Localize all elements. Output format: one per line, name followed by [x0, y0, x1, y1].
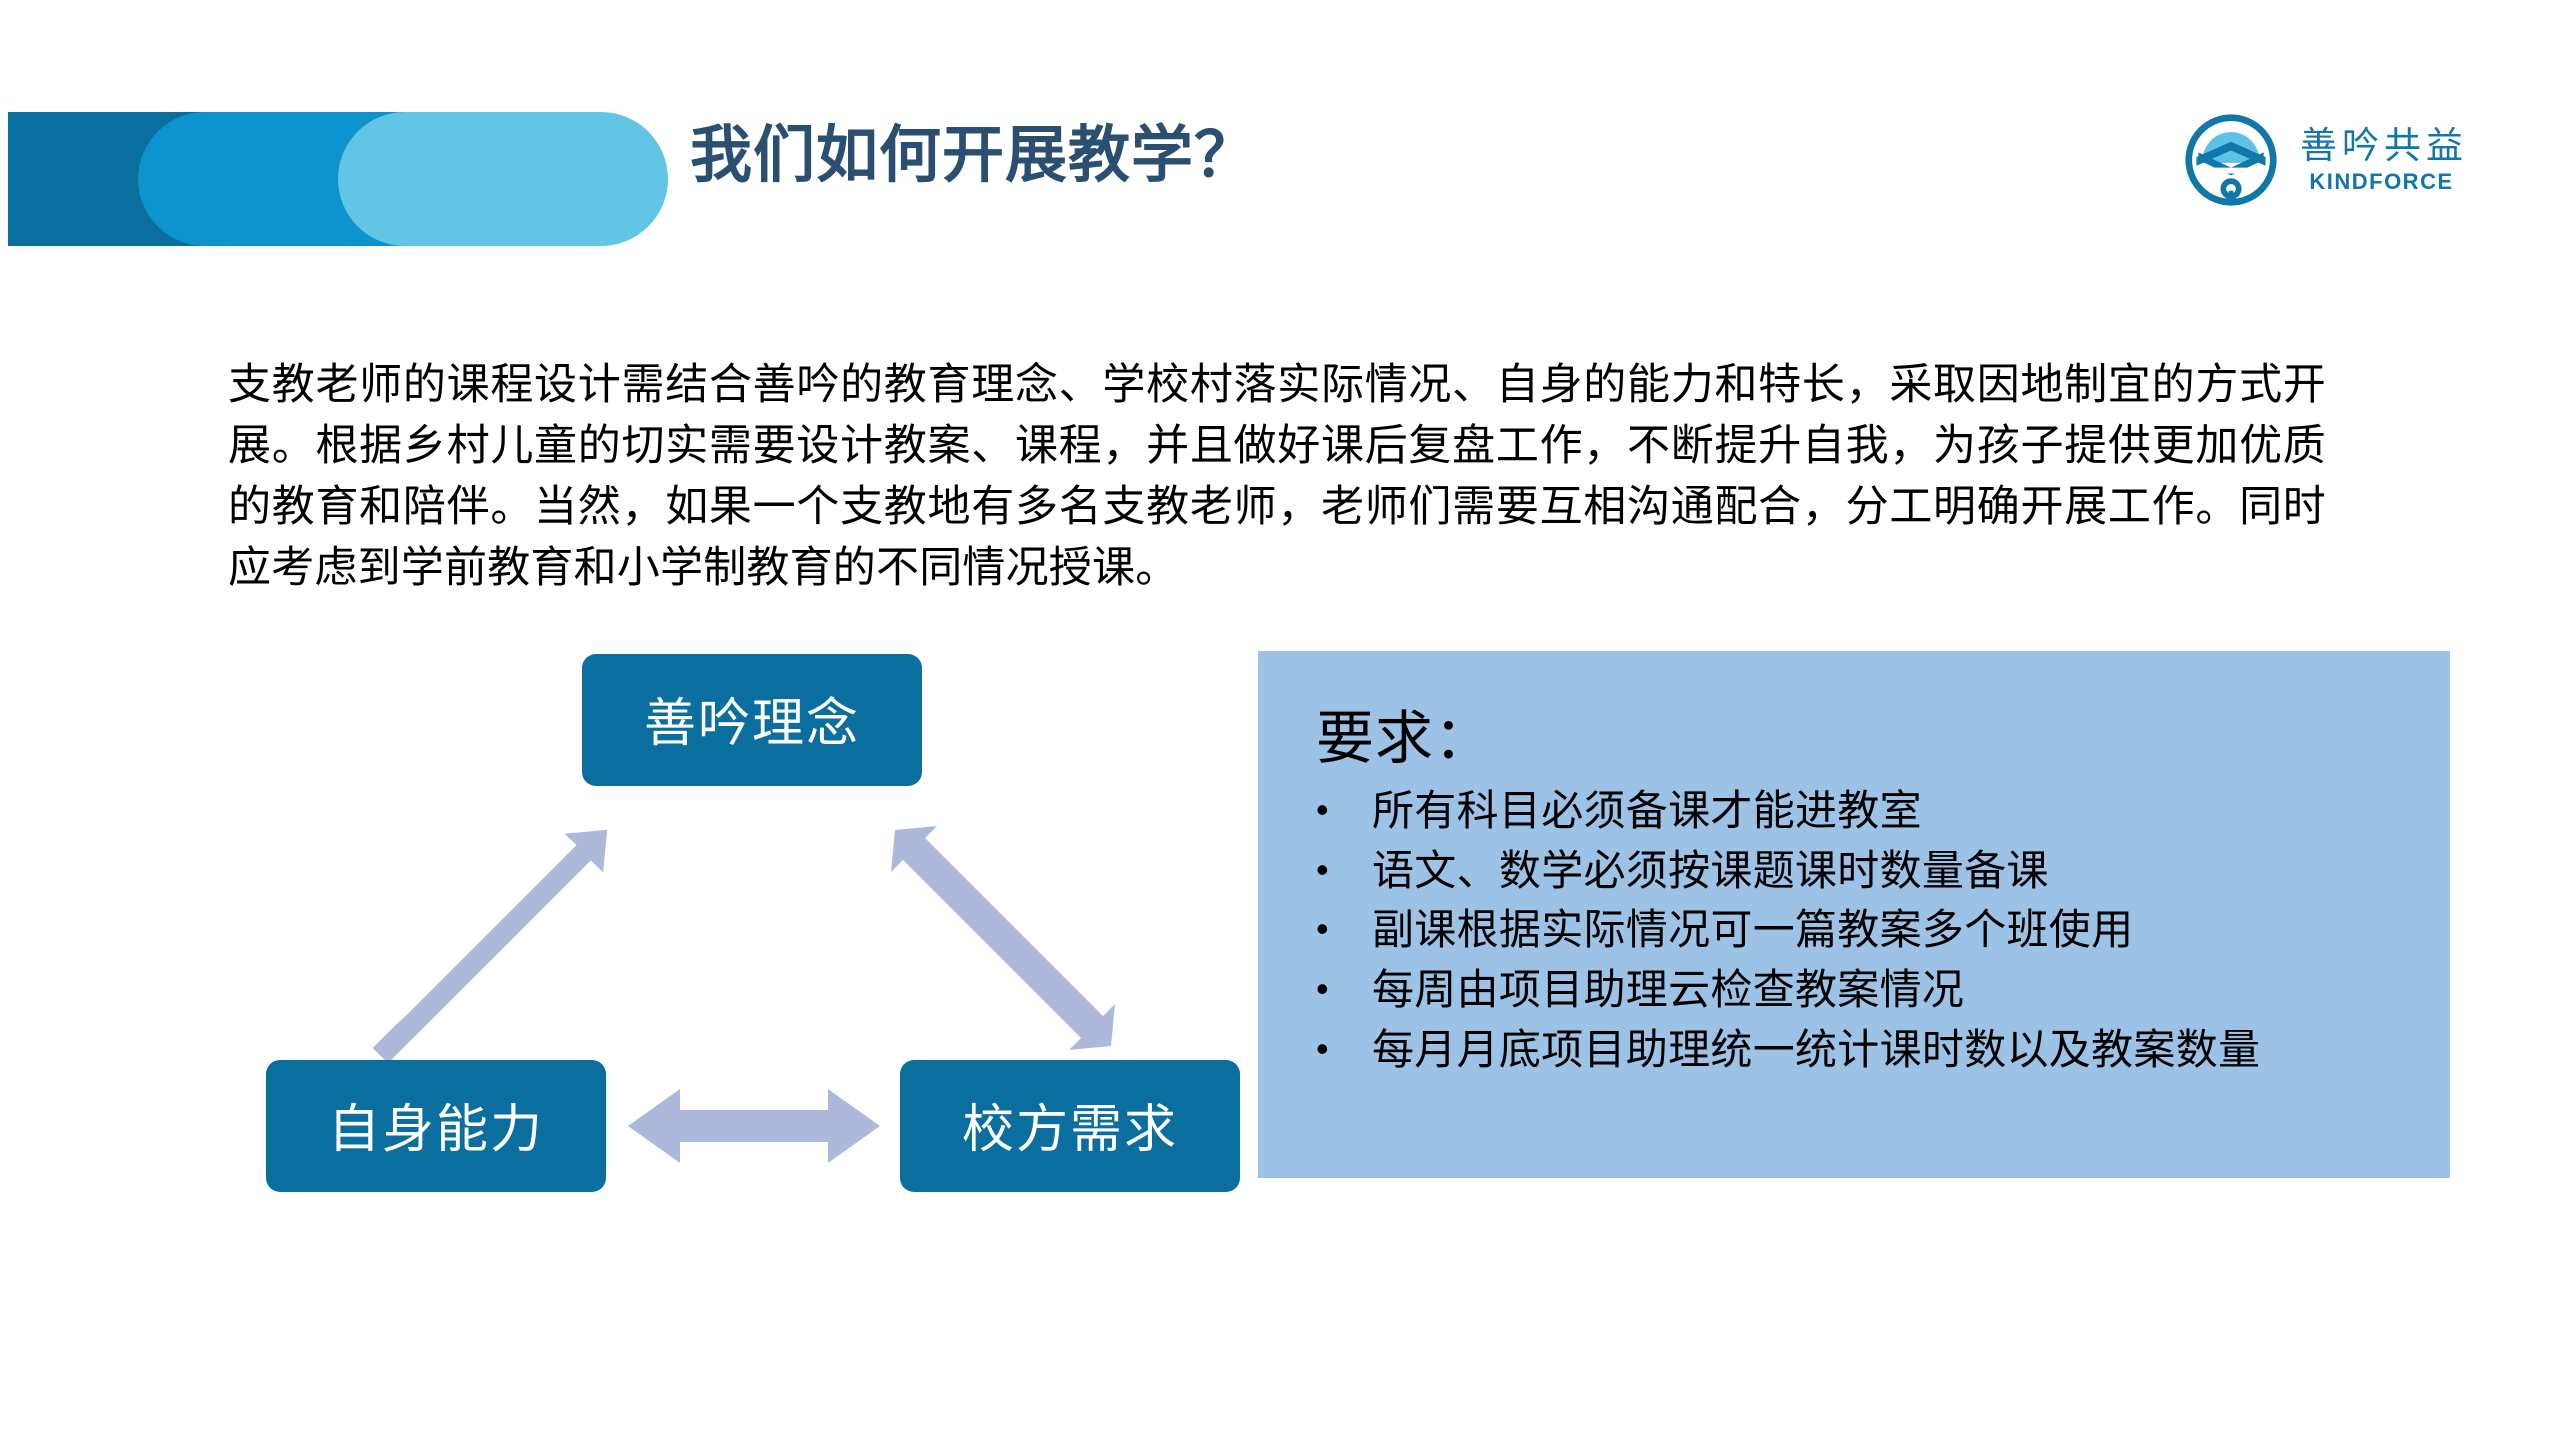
teaching-triangle-diagram: 善吟理念 自身能力 校方需求	[240, 640, 1230, 1230]
requirements-list: • 所有科目必须备课才能进教室 • 语文、数学必须按课题课时数量备课 • 副课根…	[1316, 784, 2410, 1077]
list-item: • 每周由项目助理云检查教案情况	[1316, 963, 2410, 1017]
list-item: • 每月月底项目助理统一统计课时数以及教案数量	[1316, 1023, 2410, 1077]
bullet-icon: •	[1316, 903, 1372, 955]
bullet-icon: •	[1316, 963, 1372, 1015]
list-item-text: 每月月底项目助理统一统计课时数以及教案数量	[1372, 1023, 2410, 1077]
logo-wordmark: 善吟共益 KINDFORCE	[2295, 127, 2468, 193]
diagram-node-school-needs-label: 校方需求	[962, 1087, 1178, 1162]
logo-name-cn: 善吟共益	[2300, 127, 2468, 164]
diagram-node-school-needs[interactable]: 校方需求	[900, 1060, 1240, 1192]
arrow-right-diagonal	[891, 826, 1115, 1050]
diagram-node-concept[interactable]: 善吟理念	[582, 654, 922, 786]
list-item: • 语文、数学必须按课题课时数量备课	[1316, 844, 2410, 898]
bullet-icon: •	[1316, 784, 1372, 836]
list-item-text: 副课根据实际情况可一篇教案多个班使用	[1372, 903, 2410, 957]
logo-name-en: KINDFORCE	[2309, 171, 2453, 193]
requirements-panel: 要求： • 所有科目必须备课才能进教室 • 语文、数学必须按课题课时数量备课 •…	[1258, 651, 2450, 1178]
list-item-text: 所有科目必须备课才能进教室	[1372, 784, 2410, 838]
diagram-node-ability[interactable]: 自身能力	[266, 1060, 606, 1192]
requirements-title: 要求：	[1316, 709, 2410, 770]
kindforce-emblem-icon	[2183, 112, 2279, 208]
header-decoration	[8, 112, 668, 246]
brand-logo: 善吟共益 KINDFORCE	[2183, 112, 2468, 208]
list-item-text: 每周由项目助理云检查教案情况	[1372, 963, 2410, 1017]
header-deco-segment-light	[338, 112, 668, 246]
bullet-icon: •	[1316, 844, 1372, 896]
intro-paragraph: 支教老师的课程设计需结合善吟的教育理念、学校村落实际情况、自身的能力和特长，采取…	[228, 355, 2326, 599]
arrow-left-diagonal	[373, 830, 608, 1064]
diagram-node-ability-label: 自身能力	[328, 1087, 544, 1162]
list-item: • 副课根据实际情况可一篇教案多个班使用	[1316, 903, 2410, 957]
arrow-horizontal	[628, 1089, 880, 1163]
bullet-icon: •	[1316, 1023, 1372, 1075]
diagram-node-concept-label: 善吟理念	[644, 681, 860, 756]
page-title: 我们如何开展教学？	[690, 120, 1257, 191]
list-item-text: 语文、数学必须按课题课时数量备课	[1372, 844, 2410, 898]
list-item: • 所有科目必须备课才能进教室	[1316, 784, 2410, 838]
